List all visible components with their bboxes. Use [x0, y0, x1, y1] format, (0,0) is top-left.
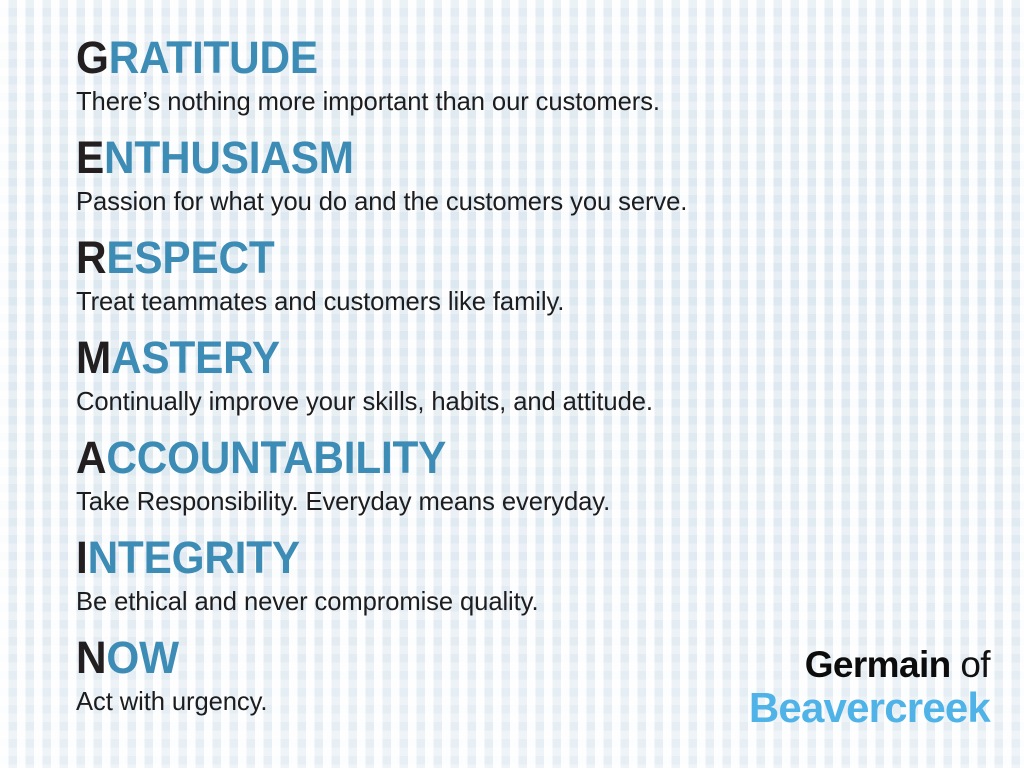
value-description-mastery: Continually improve your skills, habits,… — [76, 383, 963, 418]
value-heading-integrity: INTEGRITY — [76, 533, 922, 583]
core-values-list: GRATITUDE There’s nothing more important… — [76, 33, 976, 733]
value-initial-letter: R — [76, 232, 106, 283]
value-heading-accountability: ACCOUNTABILITY — [76, 433, 922, 483]
value-block-respect: RESPECT Treat teammates and customers li… — [76, 233, 976, 333]
logo-location-name: Beavercreek — [749, 685, 990, 730]
logo-connector-word — [951, 644, 961, 685]
value-heading-remainder: CCOUNTABILITY — [106, 432, 446, 483]
value-description-integrity: Be ethical and never compromise quality. — [76, 583, 963, 618]
logo-brand-name: Germain — [805, 644, 951, 685]
values-poster: GRATITUDE There’s nothing more important… — [0, 0, 1024, 768]
value-block-gratitude: GRATITUDE There’s nothing more important… — [76, 33, 976, 133]
value-heading-respect: RESPECT — [76, 233, 922, 283]
value-heading-remainder: NTHUSIASM — [104, 132, 354, 183]
value-initial-letter: G — [76, 32, 109, 83]
value-initial-letter: I — [76, 532, 88, 583]
value-heading-enthusiasm: ENTHUSIASM — [76, 133, 922, 183]
logo-connector-of: of — [960, 644, 990, 685]
logo-line-brand: Germain of — [749, 644, 990, 685]
value-description-enthusiasm: Passion for what you do and the customer… — [76, 183, 963, 218]
value-block-integrity: INTEGRITY Be ethical and never compromis… — [76, 533, 976, 633]
value-heading-mastery: MASTERY — [76, 333, 922, 383]
value-heading-remainder: ASTERY — [111, 332, 280, 383]
value-block-accountability: ACCOUNTABILITY Take Responsibility. Ever… — [76, 433, 976, 533]
value-heading-remainder: RATITUDE — [109, 32, 318, 83]
value-initial-letter: E — [76, 132, 104, 183]
value-heading-remainder: ESPECT — [106, 232, 274, 283]
value-initial-letter: M — [76, 332, 111, 383]
value-heading-gratitude: GRATITUDE — [76, 33, 922, 83]
value-description-gratitude: There’s nothing more important than our … — [76, 83, 963, 118]
value-description-respect: Treat teammates and customers like famil… — [76, 283, 963, 318]
value-heading-remainder: OW — [106, 632, 178, 683]
value-block-mastery: MASTERY Continually improve your skills,… — [76, 333, 976, 433]
value-description-accountability: Take Responsibility. Everyday means ever… — [76, 483, 963, 518]
dealership-logo: Germain of Beavercreek — [749, 644, 990, 730]
value-initial-letter: N — [76, 632, 106, 683]
value-block-enthusiasm: ENTHUSIASM Passion for what you do and t… — [76, 133, 976, 233]
value-initial-letter: A — [76, 432, 106, 483]
value-heading-remainder: NTEGRITY — [88, 532, 300, 583]
